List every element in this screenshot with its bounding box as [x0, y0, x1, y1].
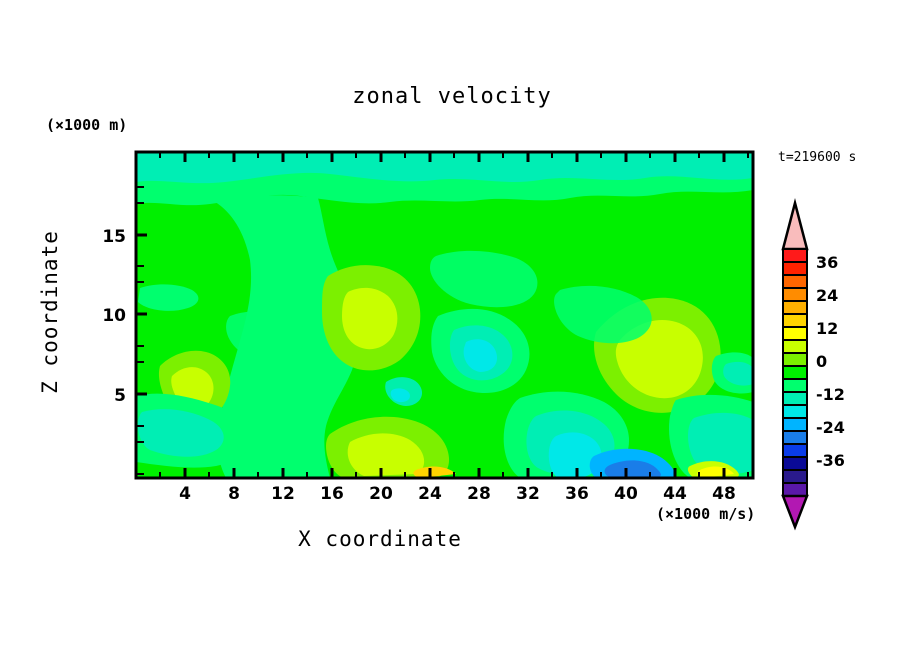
x-tick-label: 40: [614, 484, 638, 504]
x-tick-label: 4: [179, 484, 191, 504]
colorbar-label: 12: [816, 319, 838, 338]
x-tick-label: 48: [712, 484, 736, 504]
colorbar-labels: 36 24 12 0 -12 -24 -36: [816, 253, 845, 470]
colorbar-label: -24: [816, 418, 845, 437]
x-tick-label: 24: [418, 484, 442, 504]
colorbar-label: 36: [816, 253, 838, 272]
contour-field: [136, 152, 753, 478]
x-tick-label: 12: [271, 484, 295, 504]
x-tick-label: 32: [516, 484, 540, 504]
colorbar-label: -36: [816, 451, 845, 470]
x-tick-labels: 4 8 12 16 20 24 28 32 36 40 44 48: [179, 484, 736, 504]
colorbar-bands: [783, 249, 807, 496]
x-tick-label: 36: [565, 484, 589, 504]
y-tick-label: 5: [114, 386, 126, 406]
contour-figure: 4 8 12 16 20 24 28 32 36 40 44 48 5 10 1…: [0, 0, 904, 654]
colorbar[interactable]: 36 24 12 0 -12 -24 -36: [783, 203, 845, 527]
colorbar-label: 0: [816, 352, 827, 371]
y-tick-labels: 5 10 15: [102, 227, 126, 406]
x-tick-label: 44: [663, 484, 687, 504]
y-tick-label: 15: [102, 227, 126, 247]
y-tick-label: 10: [102, 306, 126, 326]
x-tick-label: 8: [228, 484, 240, 504]
x-tick-label: 20: [369, 484, 393, 504]
x-tick-label: 28: [467, 484, 491, 504]
x-tick-label: 16: [320, 484, 344, 504]
colorbar-bottom-arrow: [783, 496, 807, 527]
colorbar-label: 24: [816, 286, 838, 305]
colorbar-top-arrow: [783, 203, 807, 249]
colorbar-label: -12: [816, 385, 845, 404]
